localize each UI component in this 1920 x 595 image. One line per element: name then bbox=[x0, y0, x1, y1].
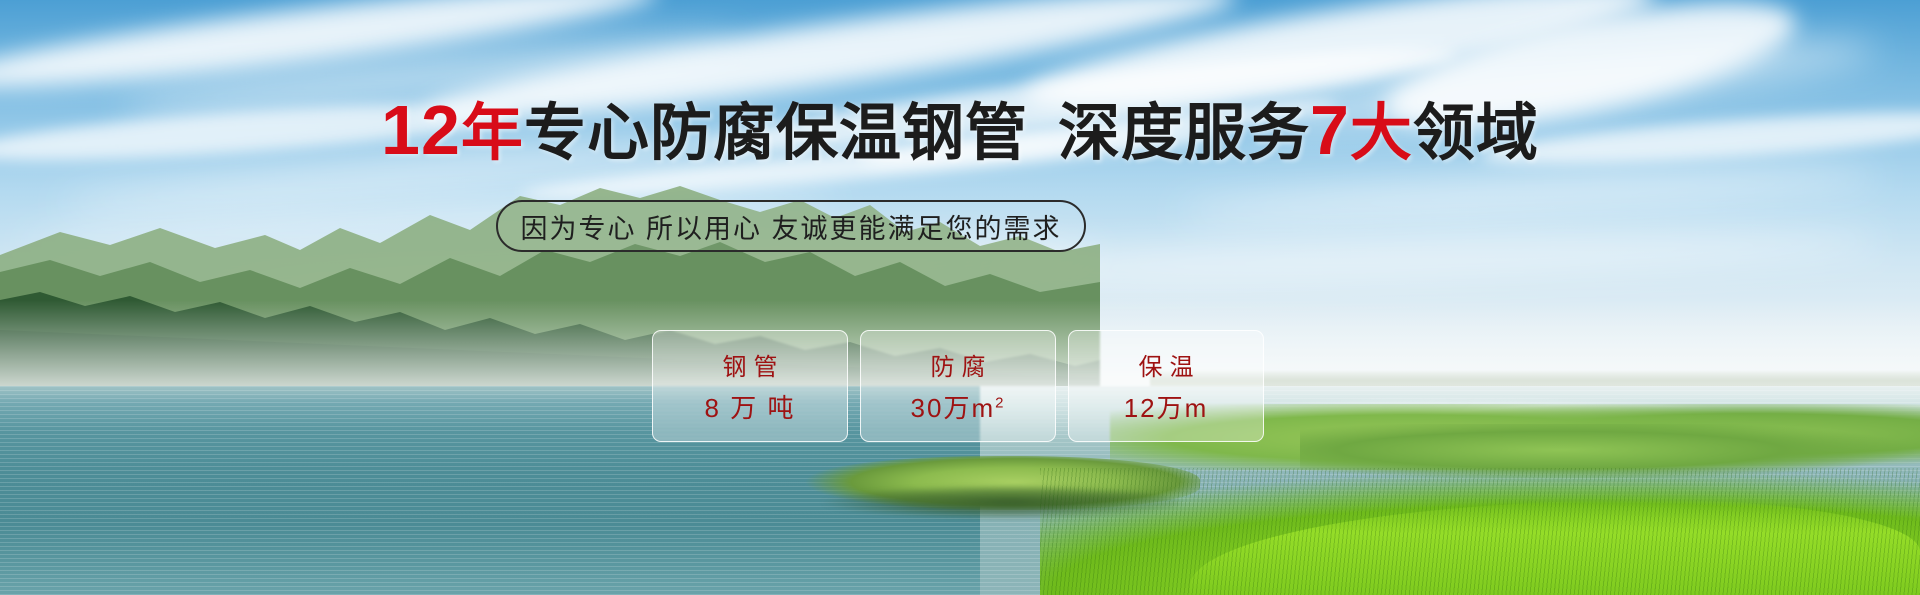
promo-banner: 12年专心防腐保温钢管深度服务7大领域 因为专心 所以用心 友诚更能满足您的需求… bbox=[0, 0, 1920, 595]
headline-service-text: 深度服务 bbox=[1058, 99, 1310, 168]
subtitle-pill: 因为专心 所以用心 友诚更能满足您的需求 bbox=[496, 200, 1086, 252]
stat-card-insulation[interactable]: 保温 12万m bbox=[1068, 330, 1264, 442]
stat-card-group: 钢管 8 万 吨 防腐 30万m2 保温 12万m bbox=[652, 330, 1264, 442]
headline-fields-unit: 大 bbox=[1350, 99, 1413, 168]
stat-value-text: 12万m bbox=[1124, 393, 1209, 423]
headline-years-number: 12 bbox=[381, 91, 461, 169]
stat-label: 钢管 bbox=[716, 347, 785, 382]
stat-card-anticorrosion[interactable]: 防腐 30万m2 bbox=[860, 330, 1056, 442]
stat-value-exponent: 2 bbox=[995, 394, 1005, 411]
stat-value-text: 30万m bbox=[911, 393, 996, 423]
stat-card-steel-pipe[interactable]: 钢管 8 万 吨 bbox=[652, 330, 848, 442]
page-title: 12年专心防腐保温钢管深度服务7大领域 bbox=[0, 82, 1920, 172]
stat-value: 8 万 吨 bbox=[705, 388, 796, 425]
headline-main-text: 专心防腐保温钢管 bbox=[524, 99, 1028, 168]
headline-years-unit: 年 bbox=[461, 99, 524, 168]
headline-fields-text: 领域 bbox=[1413, 99, 1539, 168]
subtitle-text: 因为专心 所以用心 友诚更能满足您的需求 bbox=[520, 207, 1061, 246]
stat-label: 防腐 bbox=[924, 347, 993, 382]
headline-fields-number: 7 bbox=[1310, 91, 1350, 169]
cloud-icon bbox=[980, 224, 1881, 289]
stat-value: 12万m bbox=[1124, 388, 1209, 425]
grass-blade-texture bbox=[1040, 468, 1920, 595]
stat-value: 30万m2 bbox=[911, 388, 1006, 425]
stat-value-text: 8 万 吨 bbox=[705, 393, 796, 423]
stat-label: 保温 bbox=[1132, 347, 1201, 382]
